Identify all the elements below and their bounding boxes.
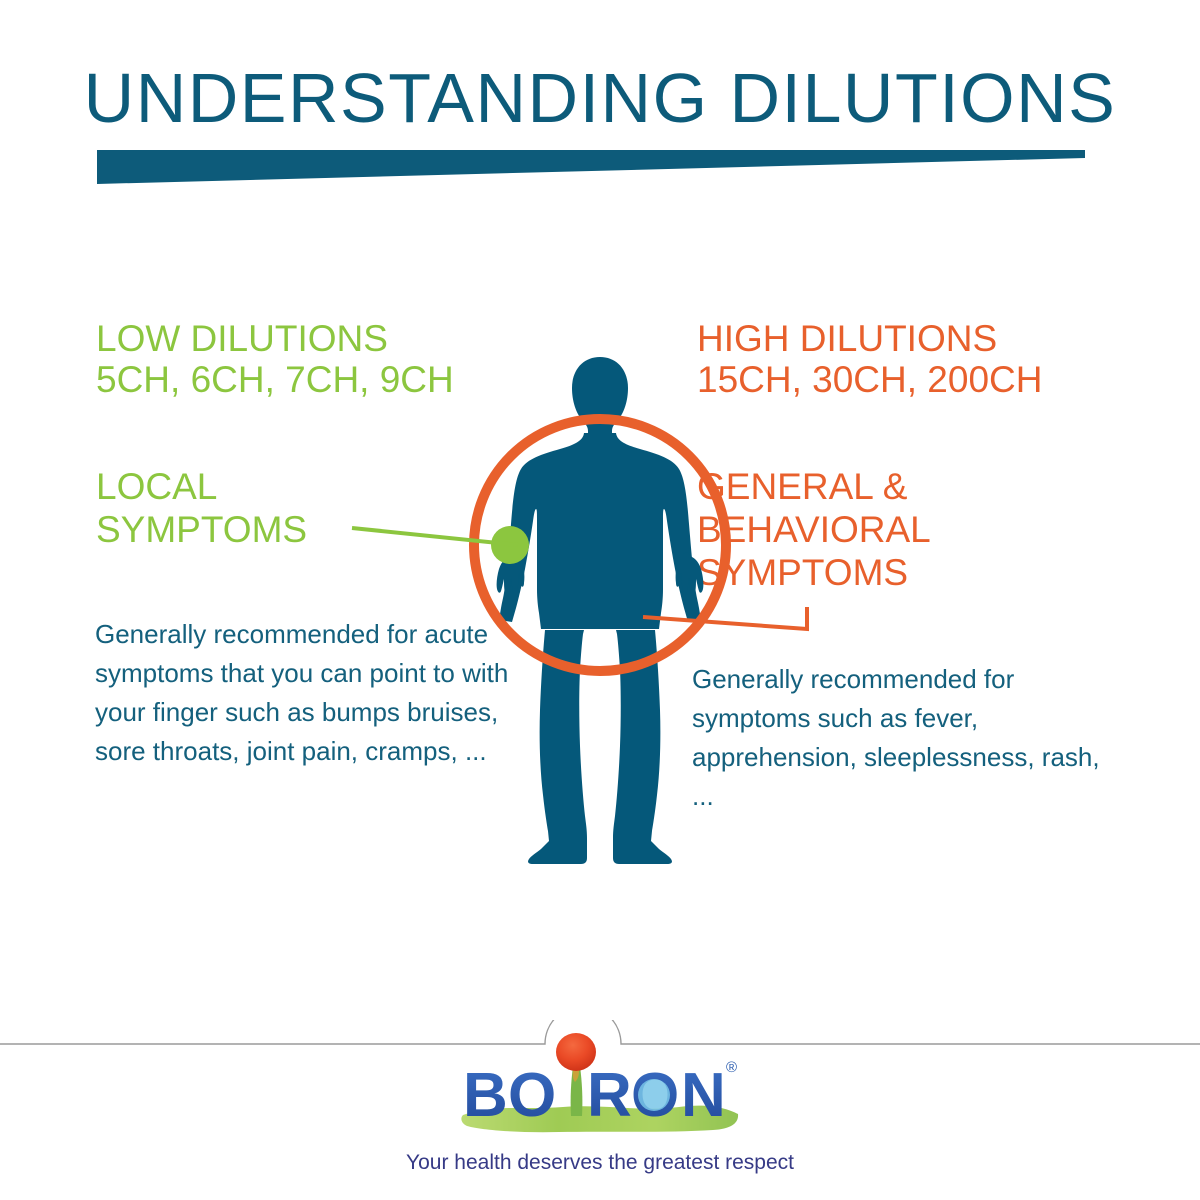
logo-letter-N: N: [681, 1061, 727, 1130]
boiron-logo[interactable]: B O R O N ®: [455, 1030, 745, 1145]
general-symptoms-leader-line: [635, 595, 825, 650]
registered-trademark-icon: ®: [726, 1059, 737, 1076]
logo-wordmark: B O R O N: [463, 1061, 727, 1130]
brand-tagline: Your health deserves the greatest respec…: [0, 1151, 1200, 1175]
logo-letter-B: B: [463, 1061, 509, 1130]
infographic-page: UNDERSTANDING DILUTIONS LOW DILUTIONS 5C…: [0, 0, 1200, 1200]
local-symptoms-leader-line: [340, 515, 530, 565]
logo-o-accent: [638, 1079, 670, 1111]
page-title: UNDERSTANDING DILUTIONS: [0, 58, 1200, 138]
local-symptoms-heading: LOCAL SYMPTOMS: [96, 465, 307, 551]
low-dilutions-heading-line1: LOW DILUTIONS: [96, 318, 388, 359]
local-symptoms-heading-line2: SYMPTOMS: [96, 508, 307, 551]
low-dilutions-heading: LOW DILUTIONS 5CH, 6CH, 7CH, 9CH: [96, 318, 454, 400]
title-underline-wedge: [97, 150, 1085, 184]
logo-letter-R: R: [587, 1061, 633, 1130]
low-dilutions-heading-line2: 5CH, 6CH, 7CH, 9CH: [96, 359, 454, 400]
local-symptoms-heading-line1: LOCAL: [96, 465, 307, 508]
logo-letter-O: O: [508, 1061, 557, 1130]
